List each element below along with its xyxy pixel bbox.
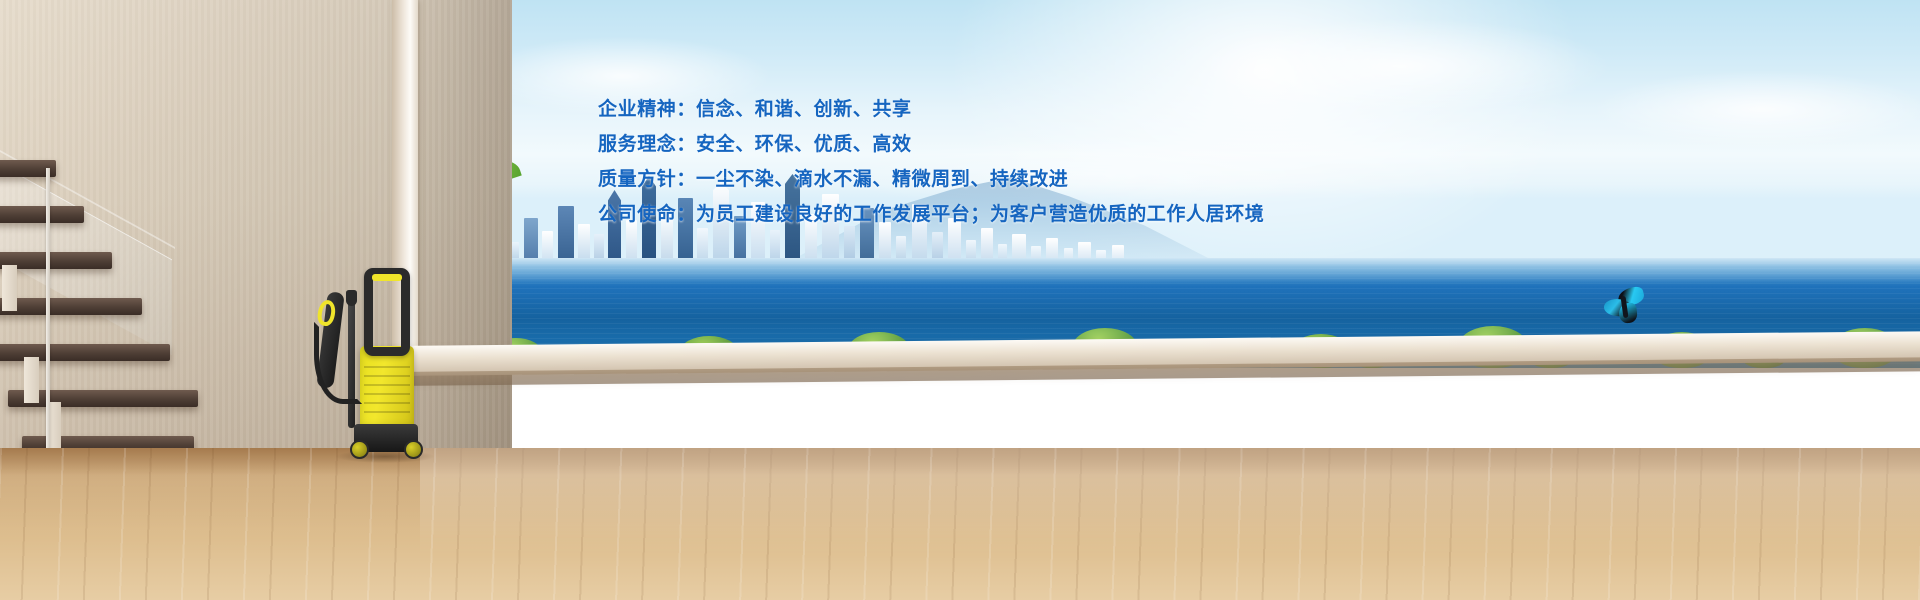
railing-post	[46, 168, 50, 460]
stair-riser	[2, 265, 17, 311]
stair-step	[0, 298, 142, 315]
floor-reflection	[420, 448, 1920, 600]
statement-line-mission: 公司使命：为员工建设良好的工作发展平台；为客户营造优质的工作人居环境	[598, 197, 1358, 232]
room-scene	[0, 0, 1920, 600]
floating-staircase	[0, 150, 210, 480]
pressure-washer	[312, 252, 432, 460]
mission-statement-block: 企业精神：信念、和谐、创新、共享 服务理念：安全、环保、优质、高效 质量方针：一…	[598, 92, 1358, 232]
statement-line-service: 服务理念：安全、环保、优质、高效	[598, 127, 1358, 162]
hero-banner: 企业精神：信念、和谐、创新、共享 服务理念：安全、环保、优质、高效 质量方针：一…	[0, 0, 1920, 600]
washer-body	[360, 346, 414, 432]
statement-line-quality: 质量方针：一尘不染、滴水不漏、精微周到、持续改进	[598, 162, 1358, 197]
washer-wheel	[404, 440, 423, 459]
washer-handle	[364, 268, 410, 356]
washer-wheel	[350, 440, 369, 459]
sea-shimmer	[412, 258, 1920, 284]
stair-riser	[24, 357, 39, 403]
statement-line-spirit: 企业精神：信念、和谐、创新、共享	[598, 92, 1358, 127]
cloud-icon	[1592, 70, 1920, 148]
stair-step	[0, 206, 84, 223]
washer-hose	[314, 322, 362, 404]
washer-handle-grip	[372, 274, 402, 281]
building	[558, 206, 574, 264]
washer-nozzle	[346, 290, 357, 306]
